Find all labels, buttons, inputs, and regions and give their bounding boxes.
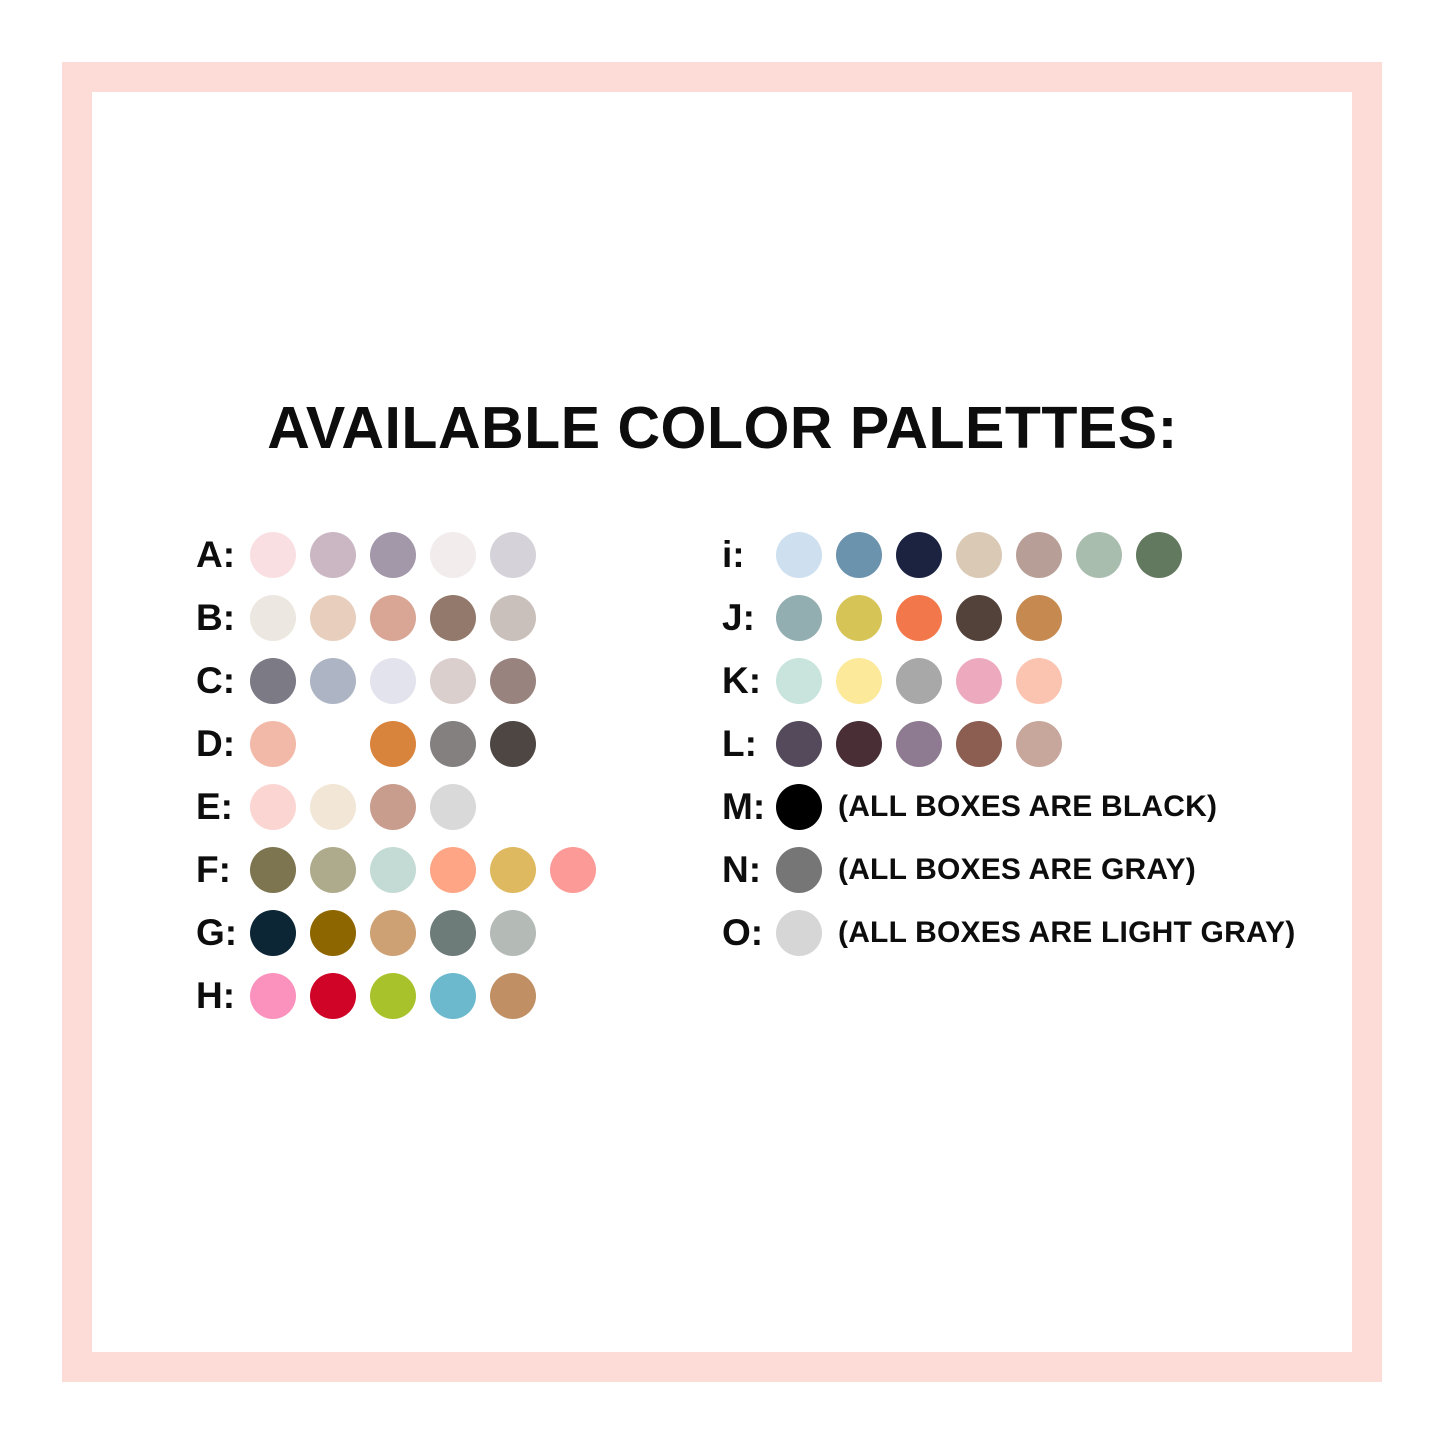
color-swatch — [430, 658, 476, 704]
palette-swatch-group — [776, 532, 1182, 578]
palette-swatch-group — [776, 847, 822, 893]
palette-row: M:(ALL BOXES ARE BLACK) — [722, 775, 1295, 838]
color-swatch — [310, 595, 356, 641]
palette-swatch-group — [250, 847, 596, 893]
color-swatch — [370, 910, 416, 956]
color-swatch — [490, 532, 536, 578]
palette-row: A: — [196, 523, 596, 586]
color-swatch — [490, 910, 536, 956]
color-swatch — [1016, 532, 1062, 578]
color-swatch — [1016, 658, 1062, 704]
color-swatch — [1076, 532, 1122, 578]
palette-row: C: — [196, 649, 596, 712]
palette-row-label: J: — [722, 599, 776, 636]
color-swatch — [956, 532, 1002, 578]
color-swatch — [250, 910, 296, 956]
color-swatch — [490, 721, 536, 767]
color-swatch — [896, 658, 942, 704]
page-title: AVAILABLE COLOR PALETTES: — [0, 394, 1445, 462]
palette-swatch-group — [776, 910, 822, 956]
palette-swatch-group — [250, 973, 536, 1019]
palette-column-left: A:B:C:D:E:F:G:H: — [196, 523, 596, 1027]
color-swatch — [956, 721, 1002, 767]
color-swatch — [1136, 532, 1182, 578]
palette-row-label: M: — [722, 788, 776, 825]
color-swatch — [310, 847, 356, 893]
color-swatch — [310, 973, 356, 1019]
color-swatch — [250, 784, 296, 830]
color-swatch — [776, 721, 822, 767]
color-swatch — [430, 532, 476, 578]
palette-swatch-group — [776, 658, 1062, 704]
color-swatch — [250, 595, 296, 641]
poster-content: AVAILABLE COLOR PALETTES: A:B:C:D:E:F:G:… — [0, 0, 1445, 1445]
palette-row-note: (ALL BOXES ARE LIGHT GRAY) — [838, 916, 1295, 950]
color-swatch — [370, 784, 416, 830]
palette-swatch-group — [250, 658, 536, 704]
color-swatch — [1016, 721, 1062, 767]
palette-row-label: L: — [722, 725, 776, 762]
palette-row-note: (ALL BOXES ARE GRAY) — [838, 853, 1196, 887]
palette-swatch-group — [250, 595, 536, 641]
color-swatch — [836, 721, 882, 767]
color-swatch — [250, 847, 296, 893]
palette-row: D: — [196, 712, 596, 775]
palette-row: E: — [196, 775, 596, 838]
color-swatch — [490, 595, 536, 641]
color-swatch — [776, 784, 822, 830]
color-swatch — [836, 658, 882, 704]
color-swatch — [370, 721, 416, 767]
color-swatch — [430, 721, 476, 767]
color-swatch — [956, 658, 1002, 704]
color-swatch — [430, 847, 476, 893]
palette-row-label: i: — [722, 536, 776, 573]
palette-swatch-group — [250, 532, 536, 578]
color-swatch — [490, 847, 536, 893]
palette-swatch-group — [776, 595, 1062, 641]
palette-row: N:(ALL BOXES ARE GRAY) — [722, 838, 1295, 901]
color-swatch — [896, 595, 942, 641]
palette-swatch-group — [776, 784, 822, 830]
palette-row-label: C: — [196, 662, 250, 699]
color-swatch — [550, 847, 596, 893]
palette-row: O:(ALL BOXES ARE LIGHT GRAY) — [722, 901, 1295, 964]
color-swatch — [430, 910, 476, 956]
palette-row: L: — [722, 712, 1295, 775]
palette-row-label: D: — [196, 725, 250, 762]
color-swatch — [776, 847, 822, 893]
palette-row-label: F: — [196, 851, 250, 888]
color-swatch — [310, 721, 356, 767]
color-swatch — [430, 784, 476, 830]
palette-row-note: (ALL BOXES ARE BLACK) — [838, 790, 1217, 824]
palette-swatch-group — [250, 910, 536, 956]
color-swatch — [776, 532, 822, 578]
color-swatch — [250, 973, 296, 1019]
palette-poster: AVAILABLE COLOR PALETTES: A:B:C:D:E:F:G:… — [0, 0, 1445, 1445]
palette-row: i: — [722, 523, 1295, 586]
color-swatch — [490, 973, 536, 1019]
color-swatch — [776, 658, 822, 704]
color-swatch — [836, 532, 882, 578]
palette-row: B: — [196, 586, 596, 649]
palette-row: K: — [722, 649, 1295, 712]
palette-swatch-group — [776, 721, 1062, 767]
color-swatch — [1016, 595, 1062, 641]
palette-row-label: A: — [196, 536, 250, 573]
color-swatch — [836, 595, 882, 641]
palette-row-label: B: — [196, 599, 250, 636]
palette-row-label: K: — [722, 662, 776, 699]
color-swatch — [896, 532, 942, 578]
color-swatch — [896, 721, 942, 767]
color-swatch — [490, 658, 536, 704]
palette-column-right: i:J:K:L:M:(ALL BOXES ARE BLACK)N:(ALL BO… — [722, 523, 1295, 964]
color-swatch — [776, 910, 822, 956]
palette-row: J: — [722, 586, 1295, 649]
palette-row-label: H: — [196, 977, 250, 1014]
color-swatch — [250, 721, 296, 767]
color-swatch — [370, 658, 416, 704]
color-swatch — [250, 532, 296, 578]
color-swatch — [310, 532, 356, 578]
color-swatch — [370, 973, 416, 1019]
color-swatch — [956, 595, 1002, 641]
color-swatch — [370, 595, 416, 641]
color-swatch — [310, 784, 356, 830]
palette-row: F: — [196, 838, 596, 901]
color-swatch — [776, 595, 822, 641]
palette-row: G: — [196, 901, 596, 964]
palette-row-label: N: — [722, 851, 776, 888]
color-swatch — [430, 595, 476, 641]
color-swatch — [310, 910, 356, 956]
color-swatch — [370, 532, 416, 578]
palette-row-label: O: — [722, 914, 776, 951]
palette-swatch-group — [250, 784, 476, 830]
palette-row-label: E: — [196, 788, 250, 825]
palette-row: H: — [196, 964, 596, 1027]
color-swatch — [310, 658, 356, 704]
color-swatch — [370, 847, 416, 893]
color-swatch — [250, 658, 296, 704]
palette-swatch-group — [250, 721, 536, 767]
palette-row-label: G: — [196, 914, 250, 951]
color-swatch — [430, 973, 476, 1019]
